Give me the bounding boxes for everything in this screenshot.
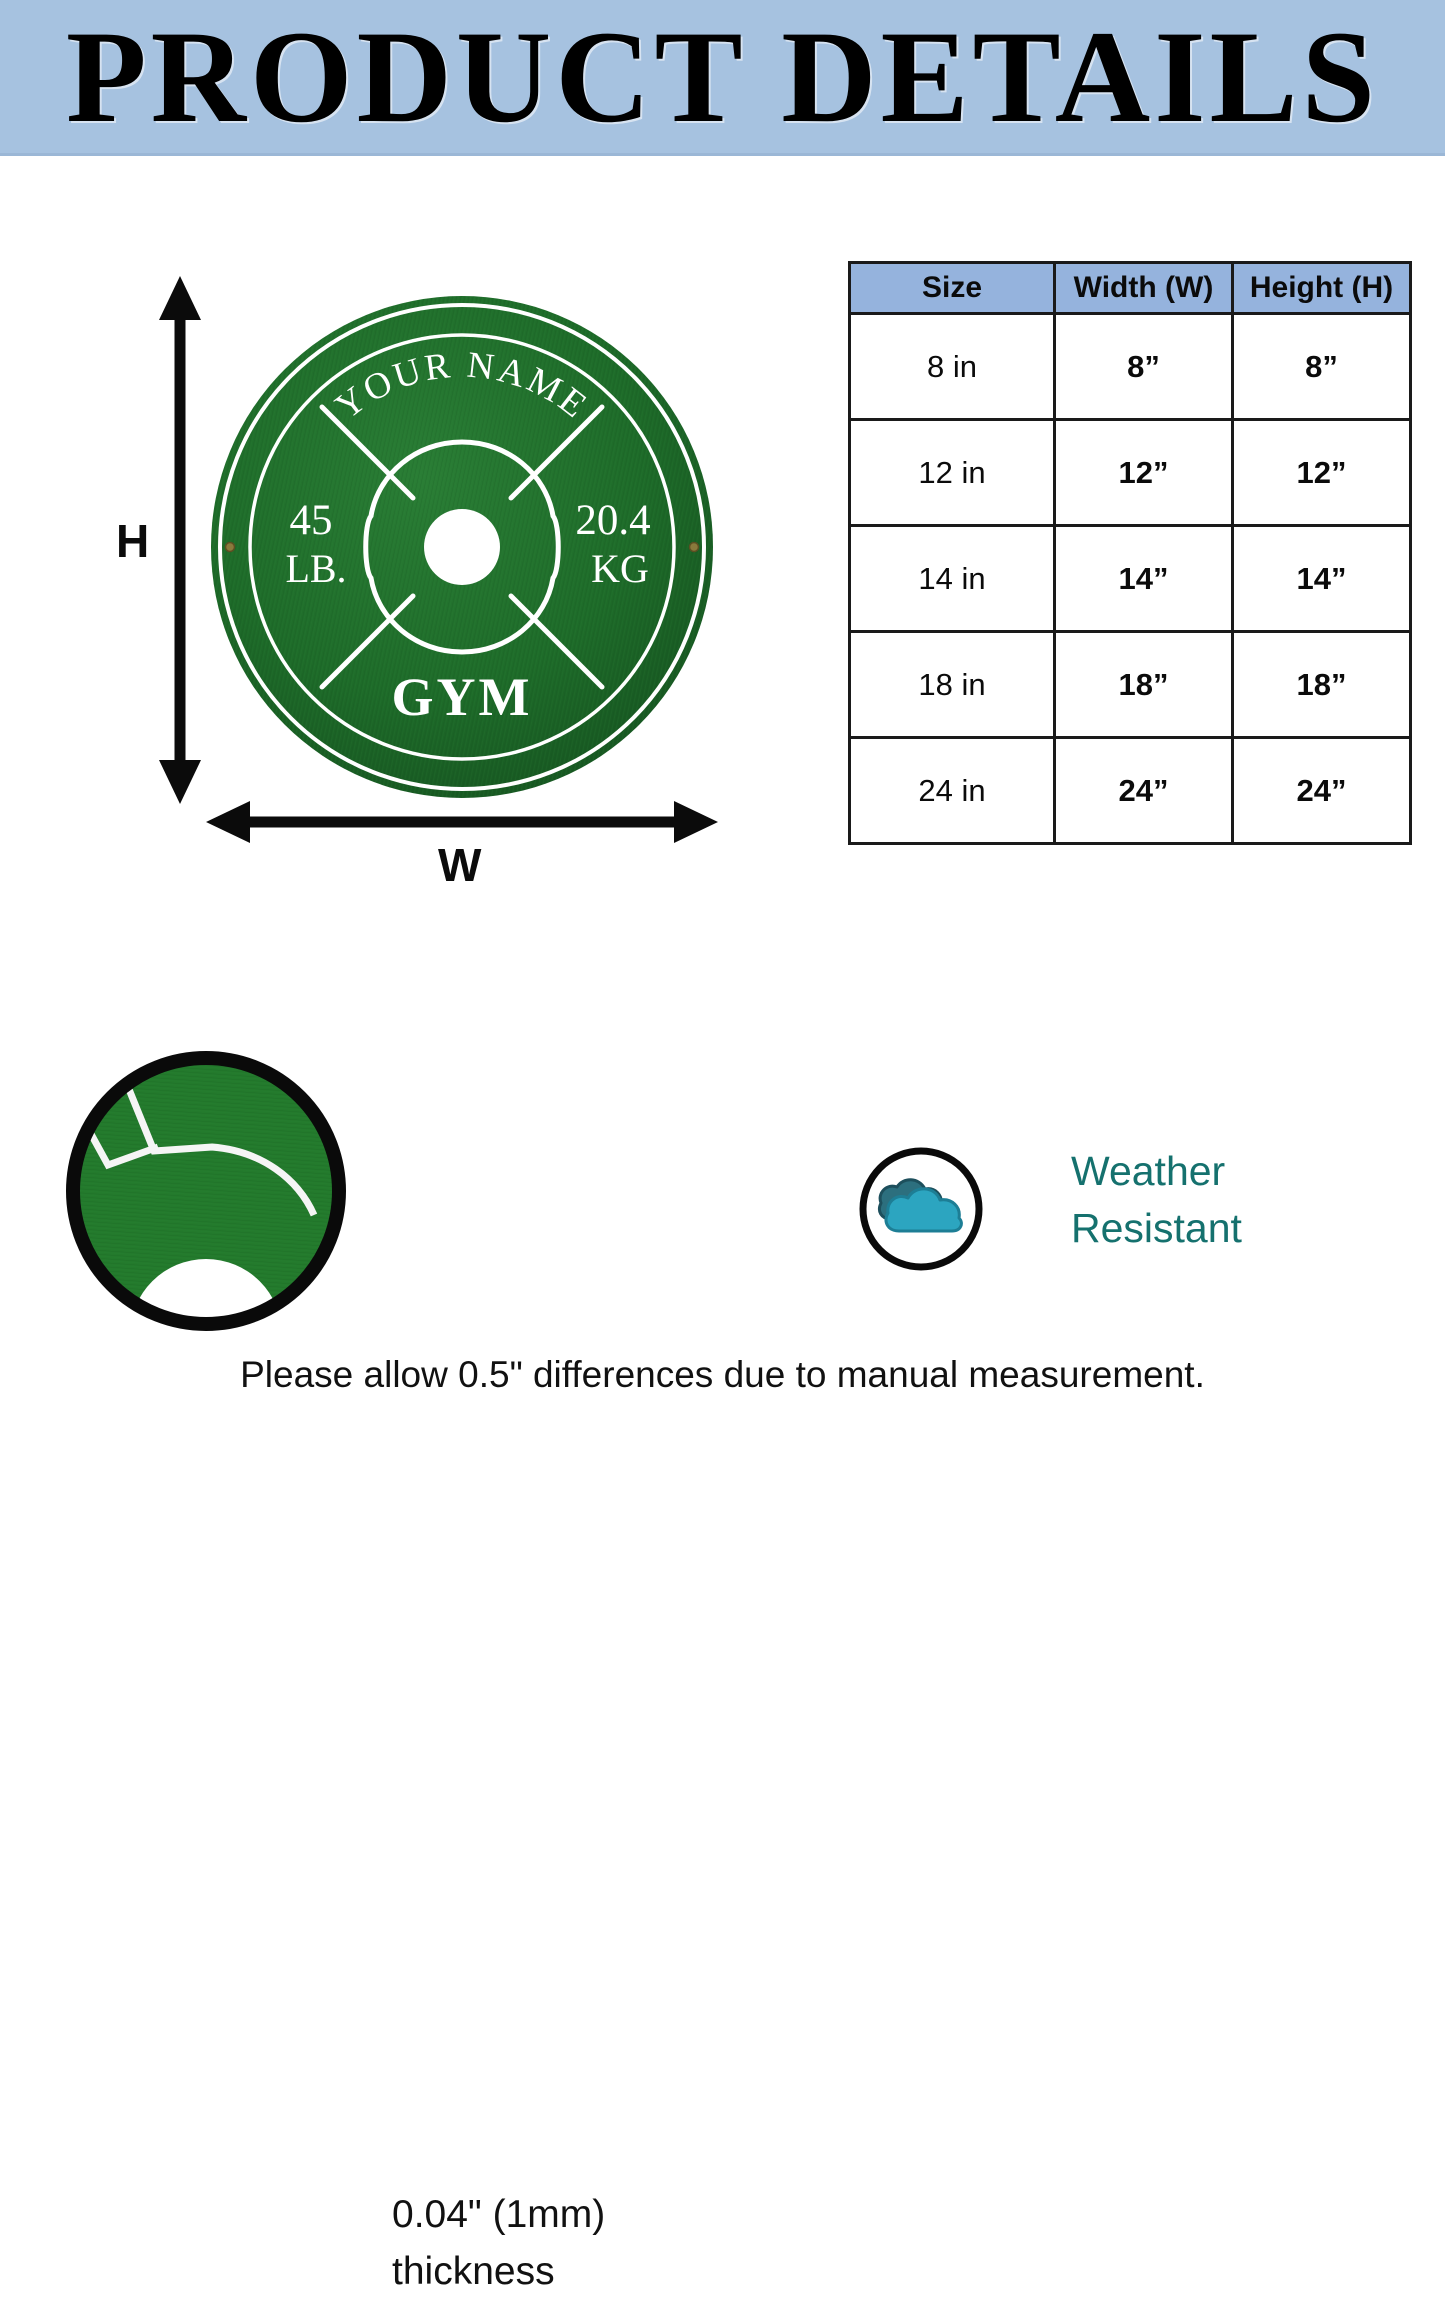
weather-resistant-label: Weather Resistant [1071,1143,1242,1256]
cell-size: 14 in [850,526,1055,632]
thickness-feature: 0.04" (1mm) thickness [62,1047,682,1347]
cell-width: 8” [1055,314,1233,420]
cell-width: 12” [1055,420,1233,526]
column-header-size: Size [850,263,1055,314]
cell-height: 12” [1233,420,1411,526]
plate-bottom-text: GYM [392,667,533,727]
cell-size: 12 in [850,420,1055,526]
size-table: Size Width (W) Height (H) 8 in 8” 8” 12 … [848,261,1412,845]
size-table-container: Size Width (W) Height (H) 8 in 8” 8” 12 … [848,261,1409,824]
plate-lb-value: 45 [290,497,333,544]
width-label: W [438,838,481,892]
cloud-icon [855,1143,987,1275]
cell-size: 18 in [850,632,1055,738]
plate-kg-value: 20.4 [575,497,650,544]
title-banner: PRODUCT DETAILS [0,0,1445,156]
table-header-row: Size Width (W) Height (H) [850,263,1411,314]
table-row: 12 in 12” 12” [850,420,1411,526]
cell-size: 24 in [850,738,1055,844]
cell-height: 14” [1233,526,1411,632]
table-row: 8 in 8” 8” [850,314,1411,420]
measurement-disclaimer: Please allow 0.5" differences due to man… [0,1354,1445,1396]
plate-kg-unit: KG [591,546,649,591]
cell-width: 24” [1055,738,1233,844]
cell-width: 18” [1055,632,1233,738]
page-title: PRODUCT DETAILS [66,11,1379,143]
column-header-width: Width (W) [1055,263,1233,314]
cell-height: 18” [1233,632,1411,738]
table-row: 24 in 24” 24” [850,738,1411,844]
height-dimension-arrow [150,276,210,804]
cell-height: 8” [1233,314,1411,420]
table-row: 18 in 18” 18” [850,632,1411,738]
plate-closeup-circle-icon [62,1047,350,1335]
cell-size: 8 in [850,314,1055,420]
column-header-height: Height (H) [1233,263,1411,314]
table-row: 14 in 14” 14” [850,526,1411,632]
cell-height: 24” [1233,738,1411,844]
thickness-label: 0.04" (1mm) thickness [392,2187,605,2301]
cell-width: 14” [1055,526,1233,632]
plate-lb-unit: LB. [285,546,346,591]
height-label: H [116,514,149,568]
weather-resistant-feature: Weather Resistant [855,1135,1355,1305]
weight-plate-illustration: YOUR NAME 45 LB. 20.4 KG GYM [208,292,716,802]
